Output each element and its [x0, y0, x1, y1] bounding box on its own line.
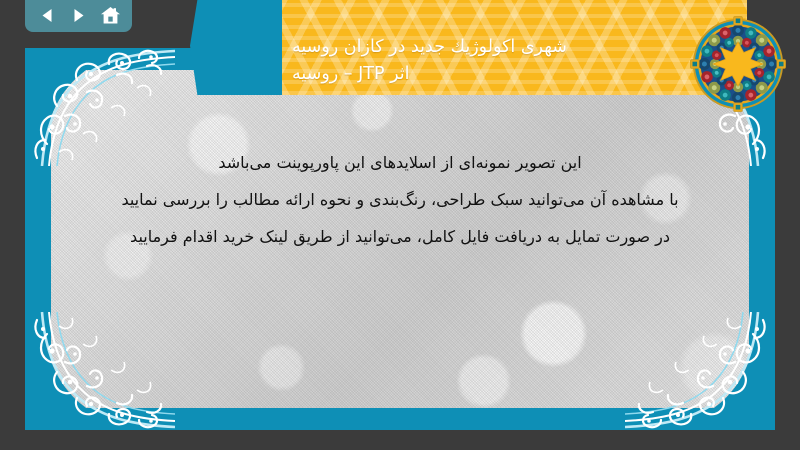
islamic-medallion-icon	[690, 16, 786, 112]
slide-title-line: شهری اکولوژیك جدید در کازان روسیه	[292, 34, 567, 61]
banner-body: کامل بررسی طراحی معماری منطقه شهری اکولو…	[282, 0, 747, 95]
previous-slide-button[interactable]	[34, 3, 60, 27]
triangle-left-icon	[39, 7, 56, 24]
home-icon	[100, 6, 121, 25]
slide-frame: این تصویر نمونه‌ای از اسلایدهای این پاور…	[25, 48, 775, 430]
slide-canvas	[51, 70, 749, 408]
slide-title: کامل بررسی طراحی معماری منطقه شهری اکولو…	[282, 0, 747, 95]
slide-title-banner: کامل بررسی طراحی معماری منطقه شهری اکولو…	[190, 0, 747, 95]
banner-pennant-tail	[190, 0, 282, 95]
presentation-slide-viewer: این تصویر نمونه‌ای از اسلایدهای این پاور…	[0, 0, 800, 450]
home-button[interactable]	[97, 3, 123, 27]
triangle-right-icon	[70, 7, 87, 24]
next-slide-button[interactable]	[66, 3, 92, 27]
slide-navigation-bar	[25, 0, 132, 32]
slide-title-line: اثر JTP – روسیه	[292, 61, 409, 88]
